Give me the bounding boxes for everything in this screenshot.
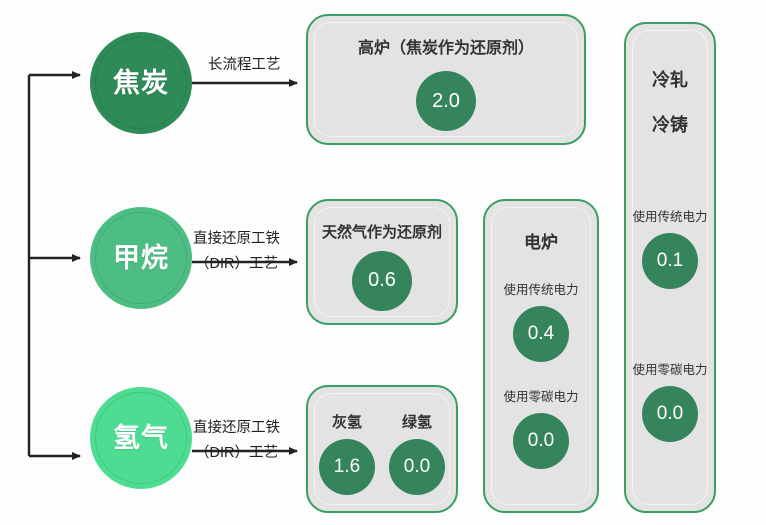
process-box-inner: 冷轧 冷铸 使用传统电力 0.1 使用零碳电力 0.0 bbox=[632, 30, 708, 505]
process-box-natural-gas[interactable]: 天然气作为还原剂 0.6 bbox=[306, 199, 458, 325]
source-node-label: 氢气 bbox=[113, 425, 169, 452]
process-box-blast-furnace[interactable]: 高炉（焦炭作为还原剂） 2.0 bbox=[306, 14, 586, 145]
box-title: 高炉（焦炭作为还原剂） bbox=[358, 39, 534, 59]
cold-rolling-title: 冷轧 冷铸 bbox=[652, 69, 688, 136]
cold-group-zero-carbon[interactable]: 使用零碳电力 0.0 bbox=[633, 363, 708, 442]
source-node-methane[interactable]: 甲烷 bbox=[90, 207, 192, 309]
value-circle: 0.0 bbox=[513, 413, 569, 469]
value-circle: 2.0 bbox=[416, 71, 476, 131]
edge-label-methane: 直接还原工铁 （DIR）工艺 bbox=[193, 231, 280, 274]
box-title: 绿氢 bbox=[402, 414, 432, 433]
value-circle: 0.1 bbox=[642, 233, 698, 289]
process-box-cold-rolling[interactable]: 冷轧 冷铸 使用传统电力 0.1 使用零碳电力 0.0 bbox=[624, 22, 716, 513]
sub-label: 使用零碳电力 bbox=[503, 390, 578, 405]
box-title: 灰氢 bbox=[332, 414, 362, 433]
box-title-line2: 冷铸 bbox=[652, 114, 688, 137]
box-title-line1: 冷轧 bbox=[652, 69, 688, 92]
diagram-canvas: 焦炭 甲烷 氢气 长流程工艺 直接还原工铁 （DIR）工艺 直接还原工铁 （DI… bbox=[0, 0, 766, 525]
value-circle: 1.6 bbox=[319, 439, 375, 495]
edge-label-hydrogen: 直接还原工铁 （DIR）工艺 bbox=[193, 420, 280, 463]
eaf-group-zero-carbon[interactable]: 使用零碳电力 0.0 bbox=[503, 390, 578, 469]
edge-label-line1: 长流程工艺 bbox=[208, 57, 281, 73]
box-title: 天然气作为还原剂 bbox=[322, 224, 442, 243]
process-box-inner: 高炉（焦炭作为还原剂） 2.0 bbox=[314, 22, 578, 137]
eaf-group-conventional[interactable]: 使用传统电力 0.4 bbox=[503, 283, 578, 362]
cold-group-conventional[interactable]: 使用传统电力 0.1 bbox=[633, 210, 708, 289]
edge-label-line1: 直接还原工铁 bbox=[193, 420, 280, 436]
source-node-label: 焦炭 bbox=[113, 70, 169, 97]
hydrogen-columns: 灰氢 1.6 绿氢 0.0 bbox=[315, 414, 449, 495]
sub-label: 使用传统电力 bbox=[633, 210, 708, 225]
source-node-label: 甲烷 bbox=[113, 245, 169, 272]
hydrogen-column-green[interactable]: 绿氢 0.0 bbox=[389, 414, 445, 495]
edge-label-coke: 长流程工艺 bbox=[208, 57, 281, 74]
process-box-inner: 灰氢 1.6 绿氢 0.0 bbox=[314, 393, 450, 505]
sub-label: 使用传统电力 bbox=[503, 283, 578, 298]
process-box-inner: 电炉 使用传统电力 0.4 使用零碳电力 0.0 bbox=[491, 207, 591, 505]
box-title: 电炉 bbox=[524, 232, 558, 253]
value-circle: 0.4 bbox=[513, 306, 569, 362]
edge-label-line2: （DIR）工艺 bbox=[193, 445, 280, 462]
value-circle: 0.6 bbox=[352, 251, 412, 311]
process-box-hydrogen[interactable]: 灰氢 1.6 绿氢 0.0 bbox=[306, 385, 458, 513]
source-node-hydrogen[interactable]: 氢气 bbox=[90, 387, 192, 489]
source-node-coke[interactable]: 焦炭 bbox=[90, 32, 192, 134]
edge-label-line2: （DIR）工艺 bbox=[193, 256, 280, 273]
value-circle: 0.0 bbox=[642, 386, 698, 442]
hydrogen-column-grey[interactable]: 灰氢 1.6 bbox=[319, 414, 375, 495]
process-box-inner: 天然气作为还原剂 0.6 bbox=[314, 207, 450, 317]
sub-label: 使用零碳电力 bbox=[633, 363, 708, 378]
process-box-electric-arc-furnace[interactable]: 电炉 使用传统电力 0.4 使用零碳电力 0.0 bbox=[483, 199, 599, 513]
edge-label-line1: 直接还原工铁 bbox=[193, 231, 280, 247]
value-circle: 0.0 bbox=[389, 439, 445, 495]
